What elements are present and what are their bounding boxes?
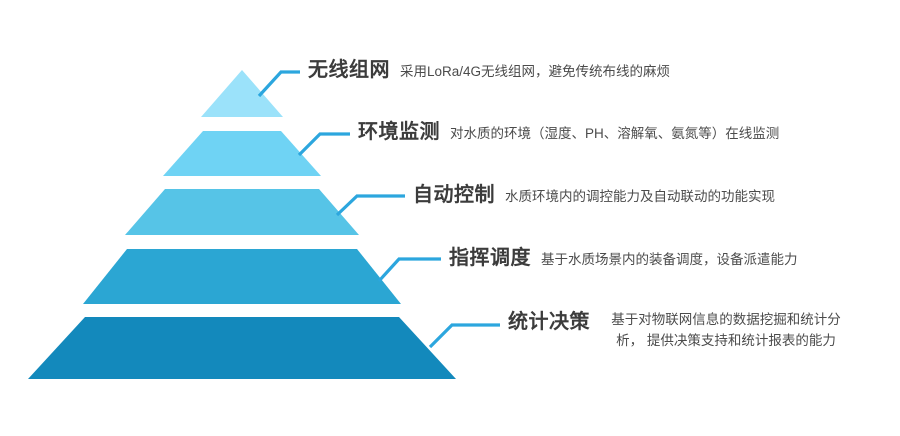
- level-1-description: 采用LoRa/4G无线组网，避免传统布线的麻烦: [400, 62, 670, 83]
- pyramid-label-level-3: 自动控制 水质环境内的调控能力及自动联动的功能实现: [413, 185, 775, 208]
- pyramid-label-level-1: 无线组网 采用LoRa/4G无线组网，避免传统布线的麻烦: [308, 60, 670, 83]
- pyramid-level-1-shape[interactable]: [201, 70, 283, 117]
- pyramid-label-level-4: 指挥调度 基于水质场景内的装备调度，设备派遣能力: [449, 248, 798, 271]
- level-5-title: 统计决策: [508, 312, 590, 332]
- level-5-description-line-2: 提供决策支持和统计报表的能力: [647, 333, 836, 348]
- leader-line-level-3: [337, 196, 405, 215]
- leader-line-level-5: [430, 325, 500, 347]
- level-5-description: 基于对物联网信息的数据挖掘和统计分析， 提供决策支持和统计报表的能力: [600, 310, 852, 352]
- pyramid-level-3-shape[interactable]: [125, 189, 359, 235]
- pyramid-level-4-shape[interactable]: [83, 249, 401, 304]
- level-4-description: 基于水质场景内的装备调度，设备派遣能力: [541, 250, 798, 271]
- pyramid-level-5-shape[interactable]: [28, 317, 456, 379]
- pyramid-diagram: 无线组网 采用LoRa/4G无线组网，避免传统布线的麻烦 环境监测 对水质的环境…: [0, 0, 900, 436]
- level-2-title: 环境监测: [358, 122, 440, 142]
- level-1-title: 无线组网: [308, 60, 390, 80]
- leader-line-level-2: [299, 134, 350, 155]
- leader-line-level-4: [379, 259, 441, 281]
- leader-line-level-1: [259, 72, 300, 96]
- pyramid-level-2-shape[interactable]: [163, 131, 321, 176]
- level-3-title: 自动控制: [413, 185, 495, 205]
- level-2-description: 对水质的环境（湿度、PH、溶解氧、氨氮等）在线监测: [450, 124, 779, 145]
- pyramid-label-level-5: 统计决策 基于对物联网信息的数据挖掘和统计分析， 提供决策支持和统计报表的能力: [508, 310, 852, 352]
- level-4-title: 指挥调度: [449, 248, 531, 268]
- level-3-description: 水质环境内的调控能力及自动联动的功能实现: [505, 187, 775, 208]
- pyramid-label-level-2: 环境监测 对水质的环境（湿度、PH、溶解氧、氨氮等）在线监测: [358, 122, 779, 145]
